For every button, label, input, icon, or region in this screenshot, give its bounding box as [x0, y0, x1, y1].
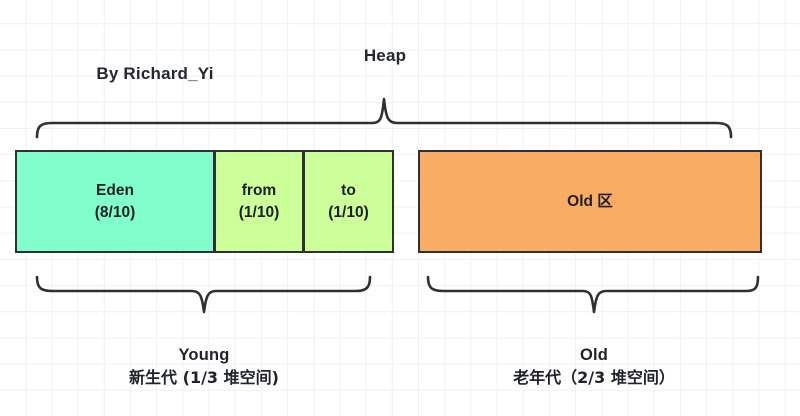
- from-survivor-fraction: (1/10): [239, 202, 280, 224]
- author-credit-label: By Richard_Yi: [96, 63, 213, 85]
- young-caption-en: Young: [129, 344, 279, 366]
- young-generation-caption: Young 新生代 (1/3 堆空间): [129, 344, 279, 390]
- old-region-box: Old 区: [418, 150, 762, 253]
- eden-region-label: Eden: [96, 180, 134, 202]
- heap-title-label: Heap: [364, 45, 406, 67]
- eden-region-fraction: (8/10): [95, 202, 136, 224]
- to-survivor-fraction: (1/10): [328, 202, 369, 224]
- to-survivor-box: to (1/10): [303, 150, 394, 253]
- eden-region-box: Eden (8/10): [15, 150, 215, 253]
- to-survivor-label: to: [341, 180, 356, 202]
- old-caption-en: Old: [513, 344, 675, 366]
- old-region-label: Old 区: [567, 191, 613, 213]
- old-brace: [428, 277, 758, 312]
- from-survivor-label: from: [242, 180, 276, 202]
- old-generation-caption: Old 老年代（2/3 堆空间）: [513, 344, 675, 390]
- young-caption-cn: 新生代 (1/3 堆空间): [129, 366, 279, 390]
- old-caption-cn: 老年代（2/3 堆空间）: [513, 366, 675, 390]
- jvm-heap-diagram: Heap By Richard_Yi Eden (8/10) from (1/1…: [0, 0, 800, 416]
- heap-brace: [37, 99, 731, 137]
- from-survivor-box: from (1/10): [214, 150, 304, 253]
- young-brace: [37, 277, 370, 312]
